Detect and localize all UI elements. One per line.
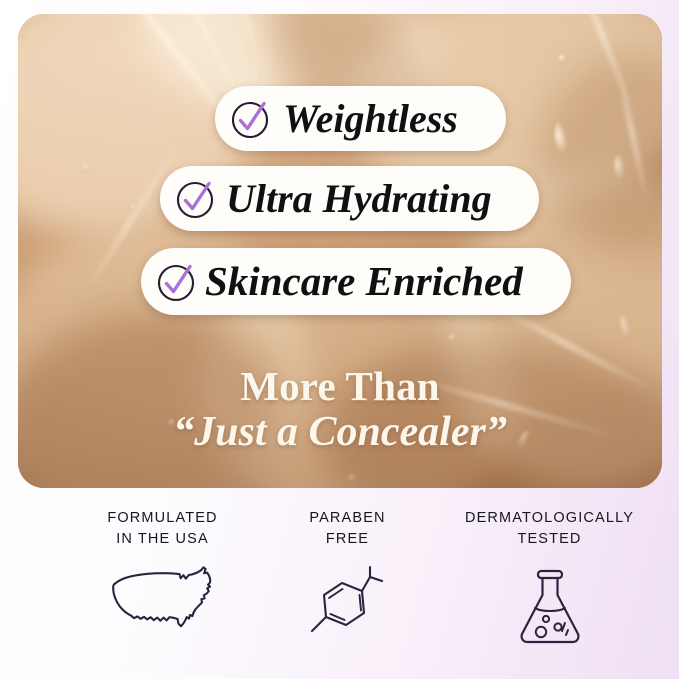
trust-badge-dermatologically-tested: DERMATOLOGICALLY TESTED	[435, 508, 665, 649]
trust-badge-formulated-usa: FORMULATED IN THE USA	[63, 508, 263, 635]
trust-badge-label: PARABEN FREE	[309, 508, 385, 549]
trust-badge-paraben-free: PARABEN FREE	[273, 508, 423, 643]
check-circle-icon	[174, 178, 216, 220]
hero-texture-card: Weightless Ultra Hydrating Skincare Enri…	[18, 14, 662, 488]
feature-badge-weightless[interactable]: Weightless	[215, 86, 506, 151]
product-feature-graphic: Weightless Ultra Hydrating Skincare Enri…	[0, 0, 679, 679]
trust-badge-label: DERMATOLOGICALLY TESTED	[465, 508, 634, 549]
check-circle-icon	[155, 261, 197, 303]
feature-badge-ultra-hydrating[interactable]: Ultra Hydrating	[160, 166, 539, 231]
feature-badge-skincare-enriched[interactable]: Skincare Enriched	[141, 248, 571, 315]
badge-label: Ultra Hydrating	[226, 179, 492, 219]
check-circle-icon	[229, 98, 271, 140]
erlenmeyer-flask-icon	[513, 565, 587, 649]
trust-badge-row: FORMULATED IN THE USA PARABEN FREE	[0, 508, 679, 679]
badge-label: Weightless	[283, 99, 458, 139]
benzene-molecule-icon	[302, 565, 394, 643]
usa-map-icon	[107, 565, 219, 635]
trust-badge-label: FORMULATED IN THE USA	[107, 508, 217, 549]
badge-label: Skincare Enriched	[205, 261, 523, 302]
